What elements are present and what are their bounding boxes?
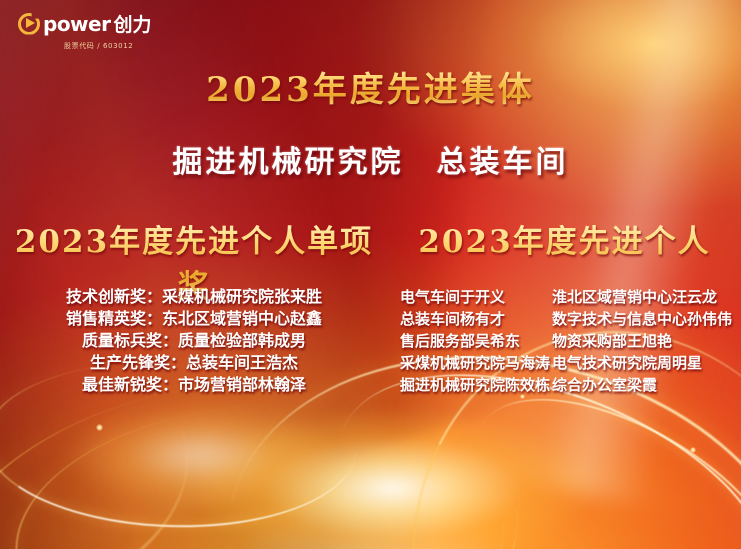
person-name: 售后服务部吴希东 [400, 330, 552, 352]
award-winner: 市场营销部林翰泽 [178, 374, 306, 396]
light-spark-1 [96, 424, 103, 431]
award-winner: 总装车间王浩杰 [186, 352, 298, 374]
logo-wordmark: power [43, 12, 110, 36]
stock-code-label: 股票代码 / 603012 [64, 41, 133, 51]
list-item: 总装车间杨有才 数字技术与信息中心孙伟伟 [388, 308, 741, 330]
award-separator: ： [146, 286, 162, 308]
person-name: 数字技术与信息中心孙伟伟 [552, 308, 741, 330]
logo-row: power 创力 [18, 10, 151, 37]
person-name: 综合办公室梁霞 [552, 374, 741, 396]
award-label: 质量标兵奖 [82, 330, 162, 352]
person-name: 电气技术研究院周明星 [552, 352, 741, 374]
list-item: 生产先锋奖 ： 总装车间王浩杰 [0, 352, 388, 374]
person-name: 电气车间于开义 [400, 286, 552, 308]
collective-winners: 掘进机械研究院 总装车间 [0, 137, 741, 181]
list-item: 售后服务部吴希东 物资采购部王旭艳 [388, 330, 741, 352]
award-label: 技术创新奖 [66, 286, 146, 308]
bottom-light-burst-left [30, 395, 371, 516]
list-item: 最佳新锐奖 ： 市场营销部林翰泽 [0, 374, 388, 396]
list-item: 采煤机械研究院马海涛 电气技术研究院周明星 [388, 352, 741, 374]
list-item: 销售精英奖 ： 东北区域营销中心赵鑫 [0, 308, 388, 330]
award-poster: power 创力 股票代码 / 603012 2023年度先进集体 掘进机械研究… [0, 0, 741, 549]
list-item: 技术创新奖 ： 采煤机械研究院张来胜 [0, 286, 388, 308]
award-separator: ： [170, 352, 186, 374]
list-item: 质量标兵奖 ： 质量检验部韩成男 [0, 330, 388, 352]
c-power-circle-arrow-icon [18, 13, 40, 35]
winner-lists: 技术创新奖 ： 采煤机械研究院张来胜 销售精英奖 ： 东北区域营销中心赵鑫 质量… [0, 286, 741, 396]
individual-awards-list: 技术创新奖 ： 采煤机械研究院张来胜 销售精英奖 ： 东北区域营销中心赵鑫 质量… [0, 286, 388, 396]
award-label: 生产先锋奖 [90, 352, 170, 374]
person-name: 掘进机械研究院陈效栋 [400, 374, 552, 396]
award-winner: 东北区域营销中心赵鑫 [162, 308, 322, 330]
award-label: 销售精英奖 [66, 308, 146, 330]
company-logo: power 创力 股票代码 / 603012 [18, 10, 151, 51]
light-spark-3 [690, 447, 696, 453]
person-name: 物资采购部王旭艳 [552, 330, 741, 352]
award-winner: 采煤机械研究院张来胜 [162, 286, 322, 308]
advanced-individuals-list: 电气车间于开义 淮北区域营销中心汪云龙 总装车间杨有才 数字技术与信息中心孙伟伟… [388, 286, 741, 396]
page-title: 2023年度先进集体 [0, 62, 741, 111]
person-name: 总装车间杨有才 [400, 308, 552, 330]
person-name: 淮北区域营销中心汪云龙 [552, 286, 741, 308]
award-separator: ： [162, 330, 178, 352]
award-label: 最佳新锐奖 [82, 374, 162, 396]
list-item: 电气车间于开义 淮北区域营销中心汪云龙 [388, 286, 741, 308]
award-winner: 质量检验部韩成男 [178, 330, 306, 352]
award-separator: ： [162, 374, 178, 396]
person-name: 采煤机械研究院马海涛 [400, 352, 552, 374]
award-separator: ： [146, 308, 162, 330]
logo-wordmark-cn: 创力 [113, 10, 151, 37]
list-item: 掘进机械研究院陈效栋 综合办公室梁霞 [388, 374, 741, 396]
